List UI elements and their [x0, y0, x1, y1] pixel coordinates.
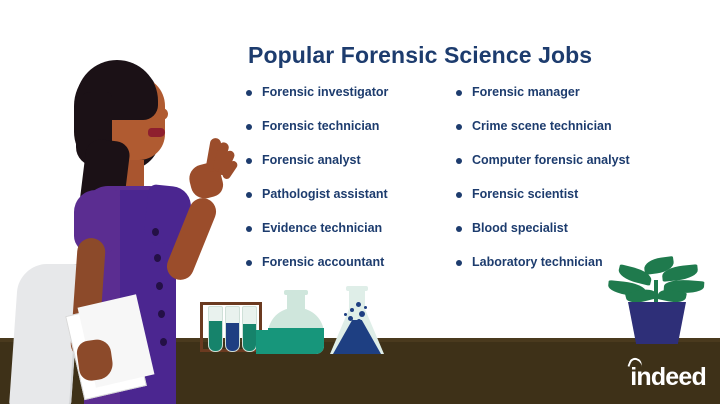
bullet-icon	[246, 226, 252, 232]
test-tube-1	[208, 306, 223, 352]
job-title-label: Forensic technician	[262, 118, 379, 135]
lips-shape	[148, 128, 165, 137]
indeed-wordmark-wrap: indeed	[630, 365, 706, 390]
list-item: Forensic accountant	[246, 254, 456, 288]
list-item: Forensic manager	[456, 84, 666, 118]
job-title-label: Forensic investigator	[262, 84, 388, 101]
job-title-label: Forensic accountant	[262, 254, 384, 271]
bullet-icon	[456, 90, 462, 96]
list-item: Forensic technician	[246, 118, 456, 152]
test-tube-rack-icon	[200, 302, 262, 354]
shirt-button-icon	[160, 338, 167, 346]
shirt-button-icon	[156, 282, 163, 290]
bullet-icon	[246, 260, 252, 266]
page-title: Popular Forensic Science Jobs	[248, 42, 592, 69]
bubble-icon	[348, 316, 353, 321]
list-item: Crime scene technician	[456, 118, 666, 152]
job-title-label: Forensic scientist	[472, 186, 578, 203]
test-tube-2	[225, 306, 240, 352]
bubble-icon	[364, 306, 367, 309]
nose-shape	[158, 108, 168, 120]
bubble-icon	[356, 302, 361, 307]
list-item: Forensic analyst	[246, 152, 456, 186]
job-title-label: Blood specialist	[472, 220, 568, 237]
bullet-icon	[456, 226, 462, 232]
shirt-button-icon	[154, 254, 161, 262]
round-flask-lip	[284, 290, 308, 295]
list-item: Computer forensic analyst	[456, 152, 666, 186]
list-item: Evidence technician	[246, 220, 456, 254]
job-title-label: Forensic manager	[472, 84, 580, 101]
bullet-icon	[246, 158, 252, 164]
test-tube-3	[242, 306, 257, 352]
job-lists: Forensic investigator Forensic technicia…	[246, 84, 666, 288]
job-title-label: Evidence technician	[262, 220, 382, 237]
bubble-icon	[359, 311, 365, 317]
job-title-label: Laboratory technician	[472, 254, 603, 271]
bullet-icon	[456, 260, 462, 266]
bullet-icon	[456, 192, 462, 198]
list-item: Forensic scientist	[456, 186, 666, 220]
bullet-icon	[456, 158, 462, 164]
job-title-label: Pathologist assistant	[262, 186, 388, 203]
bubble-icon	[357, 319, 361, 323]
conical-flask-icon	[330, 286, 384, 354]
job-list-right: Forensic manager Crime scene technician …	[456, 84, 666, 288]
list-item: Blood specialist	[456, 220, 666, 254]
list-item: Laboratory technician	[456, 254, 666, 288]
list-item: Forensic investigator	[246, 84, 456, 118]
bullet-icon	[456, 124, 462, 130]
bullet-icon	[246, 124, 252, 130]
list-item: Pathologist assistant	[246, 186, 456, 220]
round-flask-liquid	[268, 328, 324, 354]
shirt-button-icon	[158, 310, 165, 318]
indeed-logo: indeed	[630, 365, 706, 390]
indeed-wordmark: indeed	[630, 365, 706, 390]
bullet-icon	[246, 192, 252, 198]
bubble-icon	[350, 308, 354, 312]
bubble-icon	[344, 313, 347, 316]
bullet-icon	[246, 90, 252, 96]
job-title-label: Crime scene technician	[472, 118, 612, 135]
round-flask-icon	[268, 290, 324, 354]
rack-left-post	[200, 302, 203, 352]
shirt-button-icon	[152, 228, 159, 236]
plant-pot	[628, 302, 686, 344]
right-hand-gesture	[188, 138, 232, 196]
job-list-left: Forensic investigator Forensic technicia…	[246, 84, 456, 288]
infographic-canvas: Popular Forensic Science Jobs Forensic i…	[0, 0, 720, 404]
rack-top-bar	[200, 302, 262, 305]
job-title-label: Forensic analyst	[262, 152, 361, 169]
job-title-label: Computer forensic analyst	[472, 152, 630, 169]
